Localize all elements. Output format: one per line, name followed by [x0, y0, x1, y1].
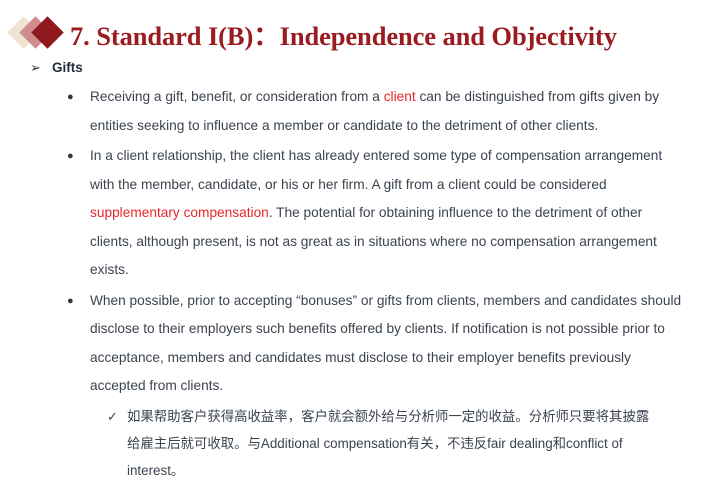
bullet-paragraph: Receiving a gift, benefit, or considerat… [90, 83, 688, 140]
bullet-text-segment: In a client relationship, the client has… [90, 148, 662, 192]
diamond-decoration-icon [12, 12, 72, 54]
section-heading-gifts: ➢ Gifts [0, 58, 702, 78]
sub-note-item: ✓ 如果帮助客户获得高收益率，客户就会额外给与分析师一定的收益。分析师只要将其披… [0, 403, 702, 484]
check-bullet-icon: ✓ [107, 403, 127, 430]
bullet-text-segment: Receiving a gift, benefit, or considerat… [90, 89, 384, 104]
bullet-text-segment: When possible, prior to accepting “bonus… [90, 293, 681, 394]
list-item: ● Receiving a gift, benefit, or consider… [0, 83, 702, 140]
list-item: ● When possible, prior to accepting “bon… [0, 287, 702, 401]
disc-bullet-icon: ● [67, 83, 90, 112]
page-title: 7. Standard I(B)：Independence and Object… [70, 14, 617, 53]
bullet-paragraph: In a client relationship, the client has… [90, 142, 688, 285]
slide-title-row: 7. Standard I(B)：Independence and Object… [0, 10, 702, 56]
arrow-bullet-icon: ➢ [30, 58, 52, 78]
sub-note-text: 如果帮助客户获得高收益率，客户就会额外给与分析师一定的收益。分析师只要将其披露给… [127, 403, 662, 484]
list-item: ● In a client relationship, the client h… [0, 142, 702, 285]
section-heading-label: Gifts [52, 58, 83, 78]
bullet-paragraph: When possible, prior to accepting “bonus… [90, 287, 688, 401]
bullet-highlight-term: client [384, 89, 416, 104]
slide-content: ➢ Gifts ● Receiving a gift, benefit, or … [0, 58, 702, 484]
disc-bullet-icon: ● [67, 287, 90, 316]
bullet-highlight-term: supplementary compensation [90, 205, 269, 220]
disc-bullet-icon: ● [67, 142, 90, 171]
